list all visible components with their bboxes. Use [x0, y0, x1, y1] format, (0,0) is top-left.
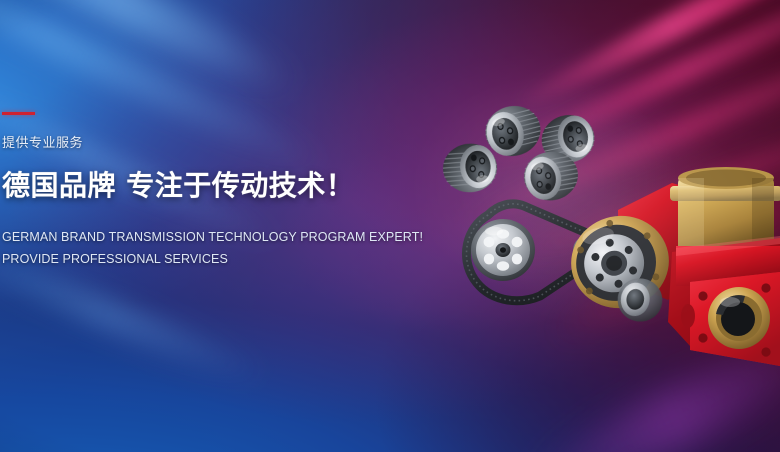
- banner-subtitle-line-2: PROVIDE PROFESSIONAL SERVICES: [2, 249, 420, 271]
- hero-banner: 提供专业服务 德国品牌 专注于传动技术！ GERMAN BRAND TRANSM…: [0, 0, 780, 452]
- banner-eyebrow: 提供专业服务: [2, 132, 420, 151]
- banner-subtitle-line-1: GERMAN BRAND TRANSMISSION TECHNOLOGY PRO…: [2, 227, 420, 249]
- banner-copy: 提供专业服务 德国品牌 专注于传动技术！ GERMAN BRAND TRANSM…: [0, 112, 420, 270]
- banner-headline: 德国品牌 专注于传动技术！: [2, 170, 420, 201]
- banner-subtitle: GERMAN BRAND TRANSMISSION TECHNOLOGY PRO…: [2, 227, 420, 270]
- accent-rule: [2, 112, 35, 115]
